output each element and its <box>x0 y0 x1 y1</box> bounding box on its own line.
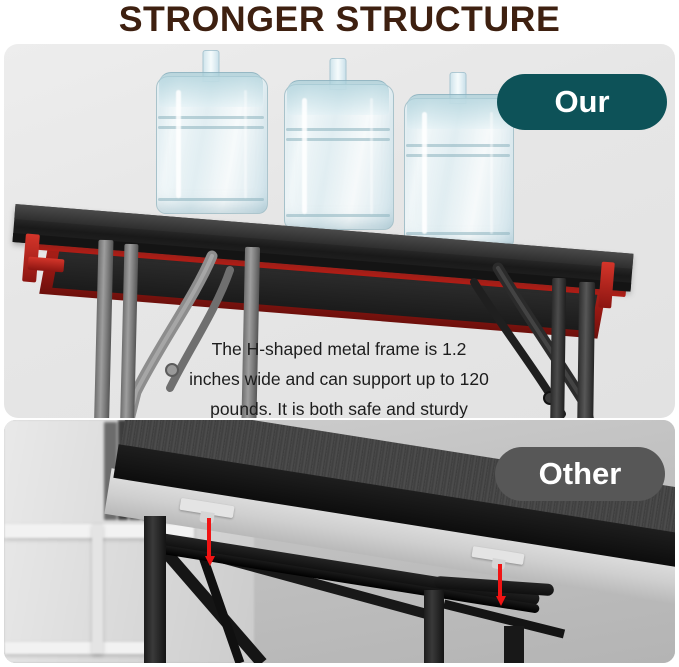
warning-arrow-right <box>496 564 504 606</box>
jug-rib <box>158 126 264 129</box>
other-badge: Other <box>495 447 665 501</box>
our-caption: The H-shaped metal frame is 1.2 inches w… <box>114 334 564 418</box>
arrow-head <box>205 556 215 566</box>
jug-highlight <box>244 90 247 198</box>
water-jug-1 <box>156 50 266 212</box>
desk-leg-front-right <box>577 282 595 418</box>
water-jug-3 <box>404 72 512 248</box>
water-jug-2 <box>284 58 392 228</box>
jug-highlight <box>422 112 427 234</box>
jug-highlight <box>490 112 493 234</box>
caption-line-3: pounds. It is both safe and sturdy <box>114 394 564 418</box>
jug-rib <box>158 198 264 201</box>
arrow-head <box>496 596 506 606</box>
desk-red-bracket-left-arm <box>28 257 65 273</box>
arrow-shaft <box>498 564 502 596</box>
jug-shoulder <box>159 72 262 107</box>
jug-highlight <box>302 98 307 214</box>
jug-rib <box>286 214 390 217</box>
other-frame-post-right <box>424 590 444 663</box>
arrow-shaft <box>207 518 211 556</box>
jug-highlight <box>370 98 373 214</box>
caption-line-2: inches wide and can support up to 120 <box>114 364 564 394</box>
jug-rib <box>158 116 264 119</box>
our-badge: Our <box>497 74 667 130</box>
page-title: STRONGER STRUCTURE <box>0 0 679 42</box>
warning-arrow-left <box>205 518 213 566</box>
other-frame-post-left <box>144 516 166 663</box>
jug-highlight <box>176 90 181 198</box>
caption-line-1: The H-shaped metal frame is 1.2 <box>114 334 564 364</box>
